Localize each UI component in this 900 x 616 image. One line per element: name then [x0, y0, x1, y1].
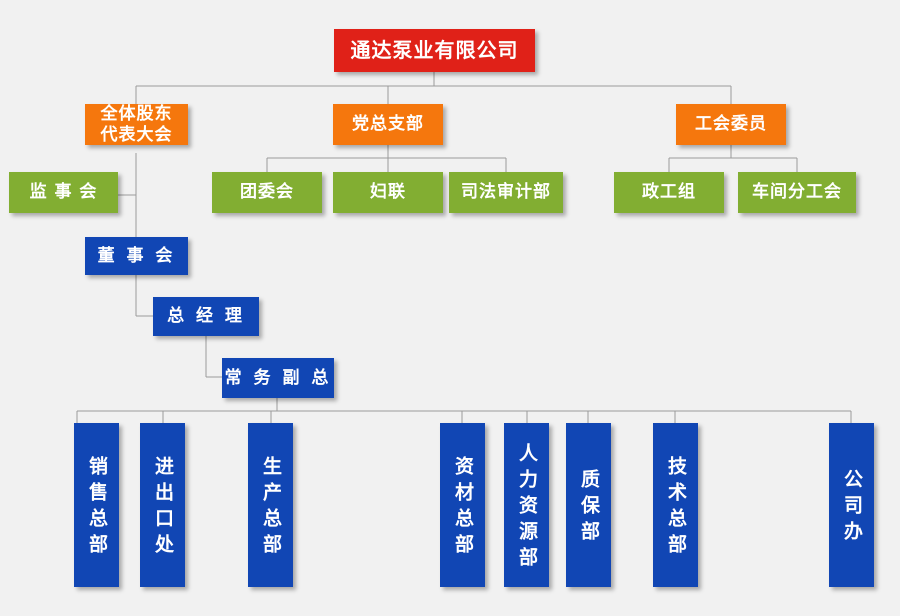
org-chart: 通达泵业有限公司 全体股东 代表大会 党总支部 工会委员 监 事 会 团委会 妇…: [0, 0, 900, 616]
node-board-of-directors[interactable]: 董 事 会: [85, 237, 188, 275]
node-materials-hq[interactable]: 资材总部: [440, 423, 485, 587]
node-union-committee[interactable]: 工会委员: [676, 104, 786, 145]
node-political-work-group[interactable]: 政工组: [614, 172, 724, 213]
node-supervisory-board[interactable]: 监 事 会: [9, 172, 118, 213]
node-shareholders-assembly[interactable]: 全体股东 代表大会: [85, 104, 188, 145]
node-judicial-audit-dept[interactable]: 司法审计部: [449, 172, 563, 213]
node-sales-hq[interactable]: 销售总部: [74, 423, 119, 587]
node-workshop-union[interactable]: 车间分工会: [738, 172, 856, 213]
node-executive-deputy-gm[interactable]: 常 务 副 总: [222, 358, 334, 398]
node-production-hq[interactable]: 生产总部: [248, 423, 293, 587]
node-party-branch[interactable]: 党总支部: [333, 104, 443, 145]
node-import-export-office[interactable]: 进出口处: [140, 423, 185, 587]
node-human-resources-dept[interactable]: 人力资源部: [504, 423, 549, 587]
node-womens-federation[interactable]: 妇联: [333, 172, 443, 213]
node-technology-hq[interactable]: 技术总部: [653, 423, 698, 587]
node-general-manager[interactable]: 总 经 理: [153, 297, 259, 336]
node-company-root[interactable]: 通达泵业有限公司: [334, 29, 535, 72]
node-quality-assurance-dept[interactable]: 质保部: [566, 423, 611, 587]
node-company-office[interactable]: 公司办: [829, 423, 874, 587]
node-youth-league[interactable]: 团委会: [212, 172, 322, 213]
